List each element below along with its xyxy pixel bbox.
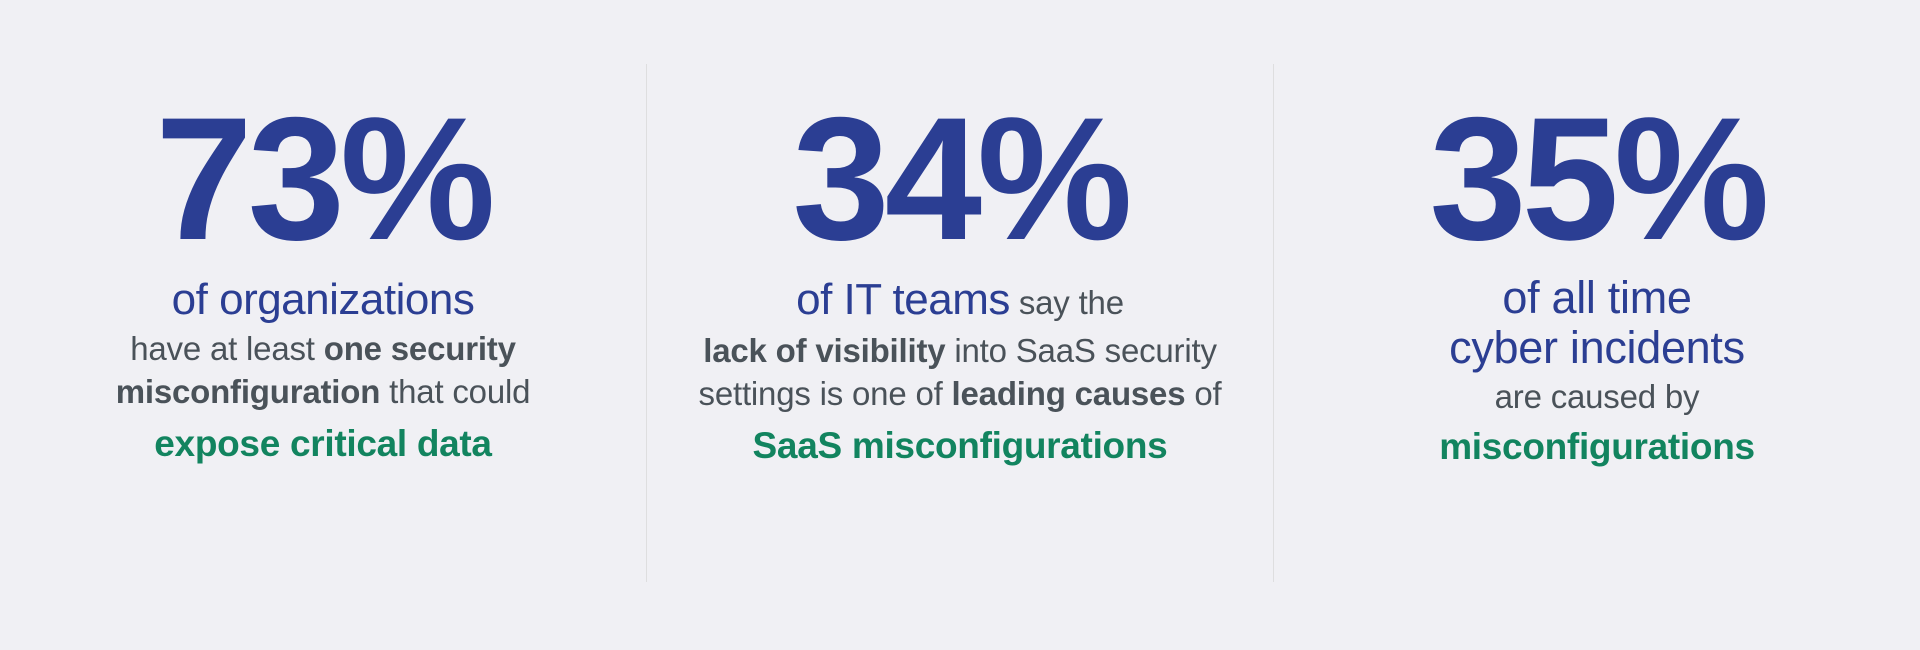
stat-line-2-2: lack of visibility into SaaS security [699, 331, 1222, 372]
stat-lead-1: of organizations [116, 273, 531, 328]
stat-lead-3-line2: cyber incidents [1439, 323, 1755, 373]
stat-emphasis-1: expose critical data [116, 421, 531, 467]
stat-lead-3: of all time [1439, 273, 1755, 323]
stat-line-1-3: misconfiguration that could [116, 372, 531, 413]
stat-lead-2: of IT teams say the [699, 273, 1222, 328]
stat-line-3-2: are caused by [1439, 377, 1755, 418]
stat-line-2-3: settings is one of leading causes of [699, 374, 1222, 415]
stat-emphasis-3: misconfigurations [1439, 424, 1755, 470]
stat-body-2: of IT teams say the lack of visibility i… [699, 273, 1222, 469]
stat-number-3: 35% [1429, 108, 1764, 252]
stat-line-1-2: have at least one security [116, 329, 531, 370]
stat-column-1: 73% of organizations have at least one s… [0, 0, 646, 650]
stat-body-1: of organizations have at least one secur… [116, 273, 531, 467]
statistics-infographic: 73% of organizations have at least one s… [0, 0, 1920, 650]
stat-body-3: of all time cyber incidents are caused b… [1439, 273, 1755, 471]
stat-column-3: 35% of all time cyber incidents are caus… [1274, 0, 1920, 650]
stat-column-2: 34% of IT teams say the lack of visibili… [647, 0, 1273, 650]
stat-number-2: 34% [792, 108, 1127, 252]
stat-emphasis-2: SaaS misconfigurations [699, 423, 1222, 469]
stat-number-1: 73% [155, 108, 490, 252]
